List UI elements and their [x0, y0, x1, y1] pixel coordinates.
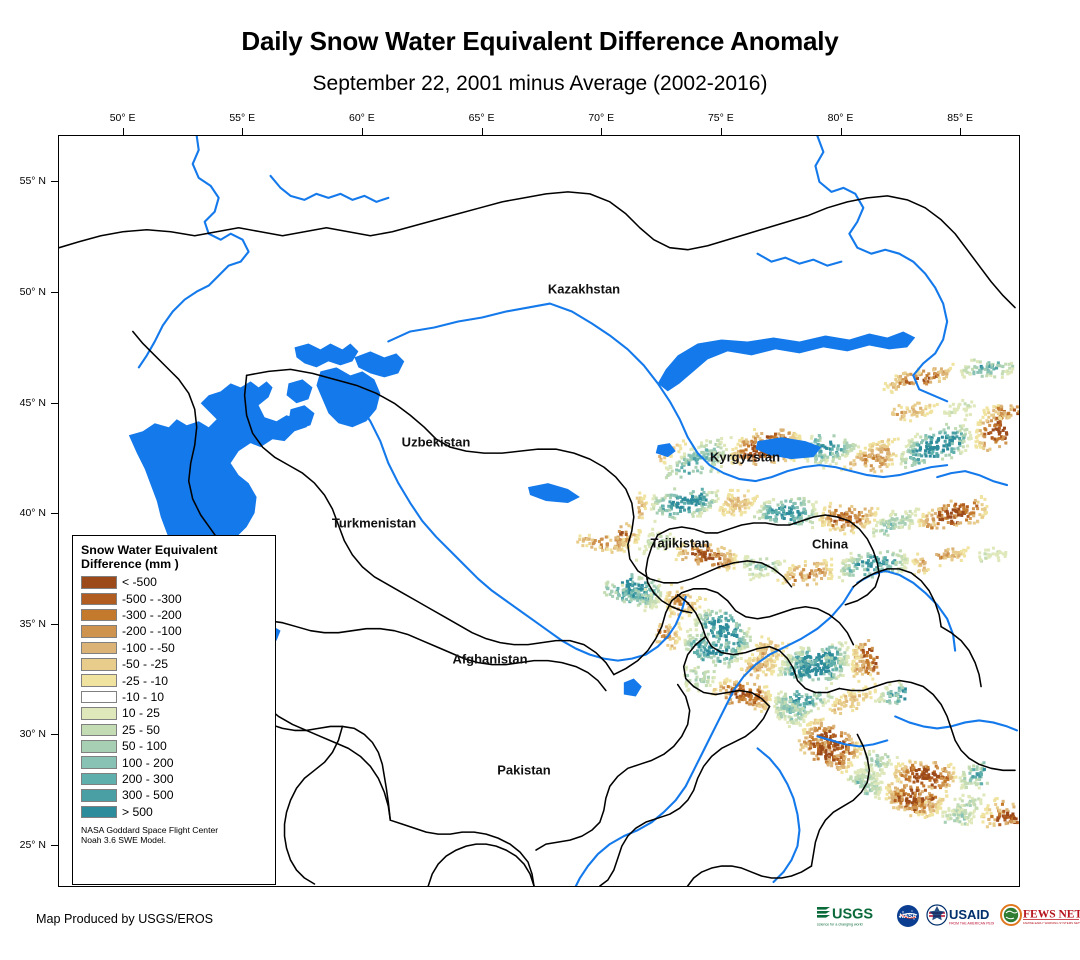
- lat-tick-label-4: 35° N: [0, 618, 46, 630]
- map-legend[interactable]: Snow Water Equivalent Difference (mm ) <…: [72, 535, 276, 885]
- legend-swatch: [81, 740, 117, 753]
- lon-tick-label-0: 50° E: [93, 112, 153, 124]
- legend-footnote: NASA Goddard Space Flight Center Noah 3.…: [81, 825, 268, 846]
- fewsnet-logo: FEWS NET FAMINE EARLY WARNING SYSTEMS NE…: [1000, 903, 1080, 929]
- legend-class-list: < -500-500 - -300-300 - -200-200 - -100-…: [81, 574, 268, 820]
- legend-label: 300 - 500: [122, 789, 174, 801]
- lon-tick-0: [123, 128, 124, 135]
- legend-row[interactable]: 10 - 25: [81, 705, 268, 721]
- swe-anomaly-raster: [576, 359, 1019, 829]
- legend-label: -200 - -100: [122, 625, 182, 637]
- legend-footnote-line1: NASA Goddard Space Flight Center: [81, 825, 268, 835]
- lat-tick-1: [51, 292, 58, 293]
- legend-title: Snow Water Equivalent Difference (mm ): [81, 544, 268, 571]
- legend-row[interactable]: -200 - -100: [81, 623, 268, 639]
- legend-label: 100 - 200: [122, 757, 174, 769]
- legend-swatch: [81, 724, 117, 737]
- lat-tick-2: [51, 403, 58, 404]
- country-label-uzbekistan: Uzbekistan: [402, 435, 471, 450]
- legend-label: 200 - 300: [122, 773, 174, 785]
- agency-logo-strip: USGS science for a changing world NASA U…: [816, 901, 1080, 931]
- usaid-logo: USAID FROM THE AMERICAN PEOPLE: [926, 903, 994, 929]
- lon-tick-3: [482, 128, 483, 135]
- country-label-tajikistan: Tajikistan: [650, 536, 709, 551]
- legend-swatch: [81, 609, 117, 622]
- legend-row[interactable]: > 500: [81, 804, 268, 820]
- legend-swatch: [81, 707, 117, 720]
- map-page: Daily Snow Water Equivalent Difference A…: [0, 0, 1080, 960]
- legend-swatch: [81, 625, 117, 638]
- lat-tick-label-3: 40° N: [0, 507, 46, 519]
- lon-tick-7: [960, 128, 961, 135]
- legend-row[interactable]: -500 - -300: [81, 591, 268, 607]
- lon-tick-label-3: 65° E: [452, 112, 512, 124]
- legend-row[interactable]: 50 - 100: [81, 738, 268, 754]
- lat-tick-3: [51, 513, 58, 514]
- lat-tick-label-5: 30° N: [0, 728, 46, 740]
- lon-tick-2: [362, 128, 363, 135]
- legend-label: > 500: [122, 806, 153, 818]
- legend-label: 25 - 50: [122, 724, 160, 736]
- page-subtitle: September 22, 2001 minus Average (2002-2…: [0, 72, 1080, 96]
- nasa-logo: NASA: [896, 903, 920, 929]
- legend-row[interactable]: -50 - -25: [81, 656, 268, 672]
- legend-swatch: [81, 642, 117, 655]
- country-label-pakistan: Pakistan: [497, 763, 550, 778]
- country-label-kazakhstan: Kazakhstan: [548, 282, 620, 297]
- lon-tick-label-7: 85° E: [930, 112, 990, 124]
- lon-tick-label-4: 70° E: [571, 112, 631, 124]
- legend-swatch: [81, 593, 117, 606]
- lat-tick-5: [51, 734, 58, 735]
- legend-row[interactable]: 25 - 50: [81, 722, 268, 738]
- legend-label: -50 - -25: [122, 658, 168, 670]
- lat-tick-label-2: 45° N: [0, 397, 46, 409]
- legend-row[interactable]: -300 - -200: [81, 607, 268, 623]
- legend-swatch: [81, 773, 117, 786]
- lat-tick-label-6: 25° N: [0, 839, 46, 851]
- legend-swatch: [81, 691, 117, 704]
- legend-swatch: [81, 806, 117, 819]
- legend-label: 50 - 100: [122, 740, 167, 752]
- legend-swatch: [81, 576, 117, 589]
- legend-swatch: [81, 674, 117, 687]
- map-credit: Map Produced by USGS/EROS: [36, 912, 213, 926]
- lon-tick-label-6: 80° E: [811, 112, 871, 124]
- legend-label: < -500: [122, 576, 157, 588]
- lat-tick-0: [51, 181, 58, 182]
- legend-row[interactable]: -10 - 10: [81, 689, 268, 705]
- legend-title-line1: Snow Water Equivalent: [81, 544, 268, 558]
- lon-tick-label-5: 75° E: [691, 112, 751, 124]
- legend-row[interactable]: 100 - 200: [81, 754, 268, 770]
- lon-tick-6: [841, 128, 842, 135]
- country-label-turkmenistan: Turkmenistan: [332, 516, 416, 531]
- legend-footnote-line2: Noah 3.6 SWE Model.: [81, 835, 268, 845]
- page-title: Daily Snow Water Equivalent Difference A…: [0, 26, 1080, 57]
- legend-row[interactable]: 300 - 500: [81, 787, 268, 803]
- legend-row[interactable]: -100 - -50: [81, 640, 268, 656]
- legend-label: -500 - -300: [122, 593, 182, 605]
- lat-tick-6: [51, 845, 58, 846]
- country-label-kyrgyzstan: Kyrgyzstan: [710, 450, 780, 465]
- lon-tick-4: [601, 128, 602, 135]
- legend-label: -10 - 10: [122, 691, 164, 703]
- legend-row[interactable]: 200 - 300: [81, 771, 268, 787]
- lat-tick-label-0: 55° N: [0, 175, 46, 187]
- legend-title-line2: Difference (mm ): [81, 558, 268, 572]
- country-label-china: China: [812, 537, 848, 552]
- legend-label: -300 - -200: [122, 609, 182, 621]
- lon-tick-label-1: 55° E: [212, 112, 272, 124]
- lon-tick-1: [242, 128, 243, 135]
- lat-tick-label-1: 50° N: [0, 286, 46, 298]
- legend-row[interactable]: < -500: [81, 574, 268, 590]
- legend-label: -100 - -50: [122, 642, 175, 654]
- lat-tick-4: [51, 624, 58, 625]
- country-label-afghanistan: Afghanistan: [452, 652, 527, 667]
- legend-label: -25 - -10: [122, 675, 168, 687]
- lon-tick-5: [721, 128, 722, 135]
- legend-row[interactable]: -25 - -10: [81, 673, 268, 689]
- legend-swatch: [81, 658, 117, 671]
- legend-swatch: [81, 756, 117, 769]
- usgs-logo: USGS science for a changing world: [816, 903, 890, 929]
- legend-label: 10 - 25: [122, 707, 160, 719]
- lon-tick-label-2: 60° E: [332, 112, 392, 124]
- legend-swatch: [81, 789, 117, 802]
